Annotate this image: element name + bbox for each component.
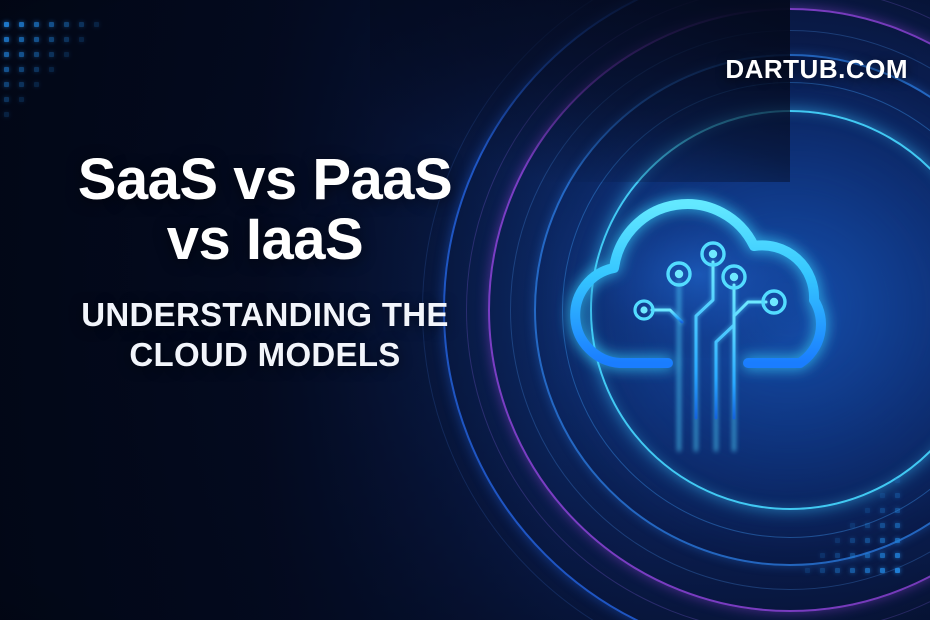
page-subtitle: UNDERSTANDING THE CLOUD MODELS bbox=[0, 295, 530, 376]
site-watermark: DARTUB.COM bbox=[725, 54, 908, 85]
subhead-line-1: UNDERSTANDING THE bbox=[81, 296, 449, 333]
promo-banner: DARTUB.COM SaaS vs PaaS vs IaaS UNDERSTA… bbox=[0, 0, 930, 620]
text-block: SaaS vs PaaS vs IaaS UNDERSTANDING THE C… bbox=[0, 150, 530, 375]
headline-line-2: vs IaaS bbox=[167, 207, 363, 272]
subhead-line-2: CLOUD MODELS bbox=[129, 336, 400, 373]
cloud-circuit-icon bbox=[548, 150, 878, 450]
cloud-inner-glow bbox=[575, 204, 821, 358]
headline-line-1: SaaS vs PaaS bbox=[78, 147, 453, 212]
page-title: SaaS vs PaaS vs IaaS bbox=[0, 150, 530, 271]
circuit-tails bbox=[679, 400, 734, 450]
